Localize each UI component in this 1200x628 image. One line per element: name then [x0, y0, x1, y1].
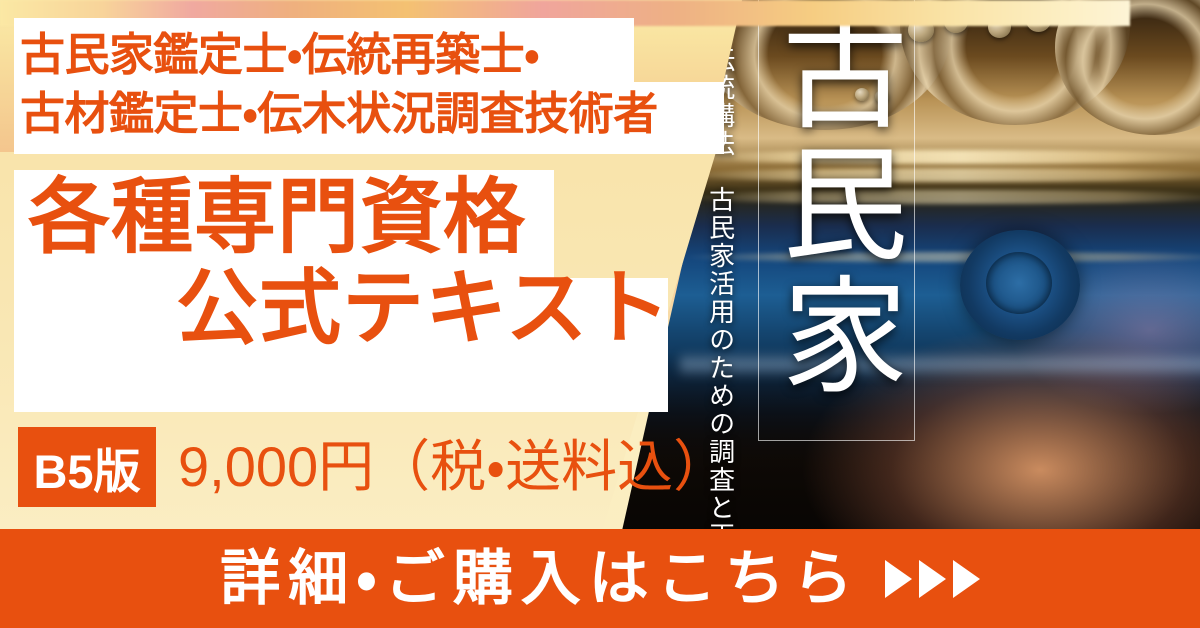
book-cover-title: 古民家 — [770, 6, 902, 402]
play-arrow-icon — [885, 560, 912, 598]
page-title-line-1: 各種専門資格 — [16, 176, 696, 260]
qualifications-headline: 古民家鑑定士・伝統再築士・ 古材鑑定士・伝木状況調査技術者 — [20, 26, 720, 143]
price-row: B5版 9,000円（税・送料込） — [18, 427, 729, 507]
cta-button[interactable]: 詳細・ご購入はこちら — [0, 529, 1200, 628]
page-title: 各種専門資格 公式テキスト — [16, 176, 696, 352]
cta-arrows — [885, 560, 980, 598]
page-title-line-2: 公式テキスト — [16, 266, 696, 352]
play-arrow-icon — [953, 560, 980, 598]
promo-banner: 古民家 伝統構法 古民家活用のための調査と再生の 古民家鑑定士・伝統再築士・ 古… — [0, 0, 1200, 628]
price-text: 9,000円（税・送料込） — [178, 439, 729, 495]
size-badge: B5版 — [18, 427, 156, 507]
play-arrow-icon — [919, 560, 946, 598]
cta-label: 詳細・ご購入はこちら — [220, 549, 860, 609]
blue-roof-medallion — [960, 230, 1080, 340]
headline-line-1: 古民家鑑定士・伝統再築士・ — [20, 26, 720, 85]
headline-line-2: 古材鑑定士・伝木状況調査技術者 — [20, 85, 720, 144]
